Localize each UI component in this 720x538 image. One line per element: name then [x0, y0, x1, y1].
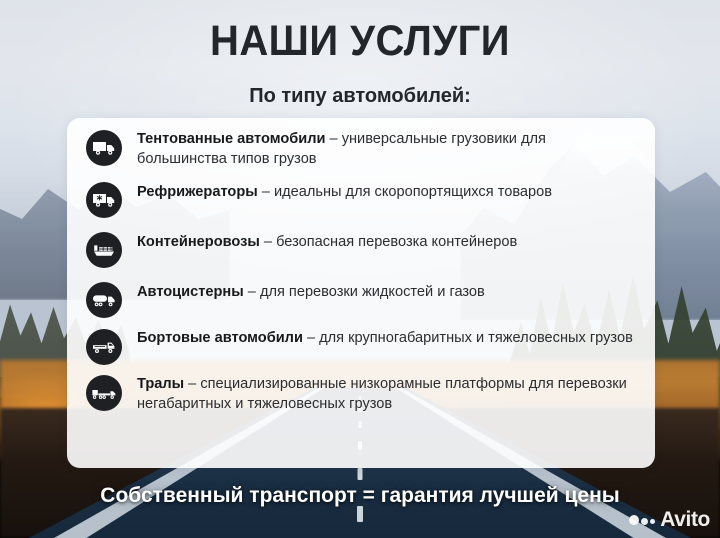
flatbed-truck-icon [86, 329, 122, 365]
list-item: Тентованные автомобили – универсальные г… [86, 128, 639, 169]
list-item-description: специализированные низкорамные платформы… [137, 376, 627, 412]
list-item-text: Контейнеровозы – безопасная перевозка ко… [137, 227, 517, 252]
list-item-text: Рефрижераторы – идеальны для скоропортящ… [137, 177, 552, 202]
list-item: Тралы – специализированные низкорамные п… [86, 373, 639, 414]
list-item-dash: – [303, 330, 319, 346]
list-item: Бортовые автомобили – для крупногабаритн… [86, 327, 639, 365]
list-item-description: идеальны для скоропортящихся товаров [274, 184, 552, 200]
road-center-dash [358, 468, 363, 480]
page-subtitle: По типу автомобилей: [0, 84, 720, 108]
list-item: Контейнеровозы – безопасная перевозка ко… [86, 227, 639, 268]
list-item: Рефрижераторы – идеальны для скоропортящ… [86, 177, 639, 218]
list-item-description: для перевозки жидкостей и газов [260, 284, 485, 300]
avito-dots-icon [629, 515, 657, 525]
road-center-dash [357, 506, 363, 522]
list-item-dash: – [325, 131, 341, 147]
list-item-dash: – [184, 376, 200, 392]
page-title: НАШИ УСЛУГИ [25, 18, 695, 64]
box-truck-icon [86, 130, 122, 166]
list-item-term: Контейнеровозы [137, 234, 260, 250]
list-item: Автоцистерны – для перевозки жидкостей и… [86, 277, 639, 318]
list-item-text: Тралы – специализированные низкорамные п… [137, 373, 639, 414]
list-item-text: Бортовые автомобили – для крупногабаритн… [137, 327, 633, 348]
promo-banner: НАШИ УСЛУГИ По типу автомобилей: Т [0, 0, 720, 538]
avito-wordmark: Avito [660, 509, 710, 530]
list-item-dash: – [244, 284, 260, 300]
tanker-truck-icon [86, 282, 122, 318]
list-item-term: Тентованные автомобили [137, 131, 325, 147]
footer-tagline: Собственный транспорт = гарантия лучшей … [0, 483, 720, 508]
list-item-dash: – [258, 184, 274, 200]
list-item-term: Рефрижераторы [137, 184, 258, 200]
list-item-term: Автоцистерны [137, 284, 244, 300]
list-item-dash: – [260, 234, 276, 250]
container-ship-icon [86, 232, 122, 268]
list-item-term: Тралы [137, 376, 184, 392]
services-card: Тентованные автомобили – универсальные г… [67, 118, 655, 468]
services-list: Тентованные автомобили – универсальные г… [86, 128, 639, 414]
refrigerator-truck-icon [86, 182, 122, 218]
list-item-description: для крупногабаритных и тяжеловесных груз… [319, 330, 633, 346]
lowboy-trailer-icon [86, 375, 122, 411]
list-item-text: Тентованные автомобили – универсальные г… [137, 128, 639, 169]
list-item-term: Бортовые автомобили [137, 330, 303, 346]
list-item-description: безопасная перевозка контейнеров [276, 234, 517, 250]
list-item-text: Автоцистерны – для перевозки жидкостей и… [137, 277, 485, 302]
avito-watermark: Avito [629, 509, 710, 530]
